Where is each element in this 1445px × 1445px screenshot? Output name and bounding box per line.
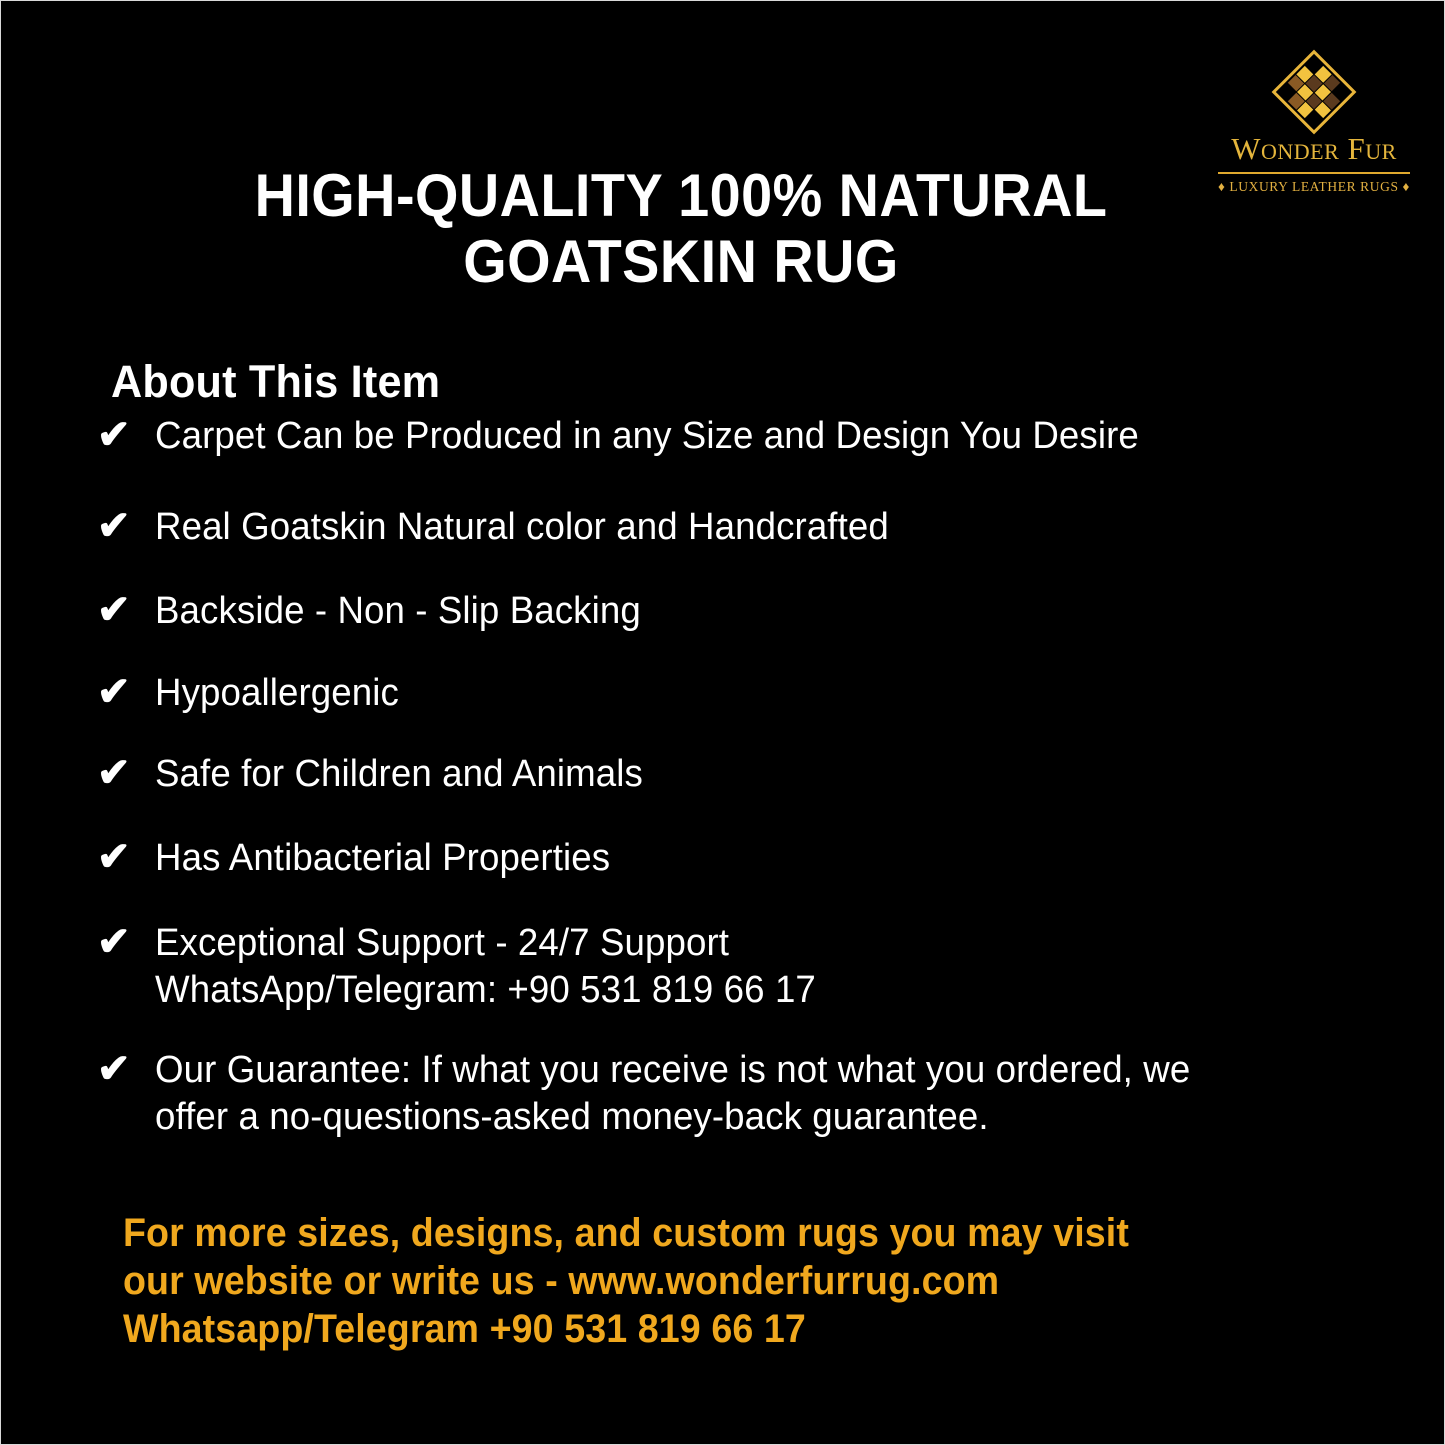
- list-item: ✔ Our Guarantee: If what you receive is …: [93, 1047, 1393, 1141]
- check-icon: ✔: [93, 835, 155, 879]
- footer-promo-text: For more sizes, designs, and custom rugs…: [123, 1209, 1298, 1353]
- list-item-label: Our Guarantee: If what you receive is no…: [155, 1047, 1350, 1141]
- list-item-label: Exceptional Support - 24/7 Support Whats…: [155, 920, 1350, 1014]
- check-icon: ✔: [93, 751, 155, 795]
- page-title: HIGH-QUALITY 100% NATURAL GOATSKIN RUG: [216, 163, 1146, 295]
- logo-diamond-wrap: [1271, 49, 1357, 135]
- list-item: ✔ Hypoallergenic: [93, 670, 1393, 717]
- list-item: ✔ Safe for Children and Animals: [93, 751, 1393, 798]
- list-item: ✔ Backside - Non - Slip Backing: [93, 588, 1393, 635]
- about-section-heading: About This Item: [111, 356, 440, 408]
- logo-wordmark: Wonder Fur: [1208, 133, 1420, 166]
- brand-logo: Wonder Fur ♦ LUXURY LEATHER RUGS ♦: [1208, 49, 1420, 197]
- check-icon: ✔: [93, 670, 155, 714]
- check-icon: ✔: [93, 588, 155, 632]
- list-item-label: Carpet Can be Produced in any Size and D…: [155, 413, 1350, 460]
- logo-divider: [1218, 172, 1410, 174]
- check-icon: ✔: [93, 504, 155, 548]
- promo-banner: Wonder Fur ♦ LUXURY LEATHER RUGS ♦ HIGH-…: [0, 0, 1445, 1445]
- list-item: ✔ Real Goatskin Natural color and Handcr…: [93, 504, 1393, 551]
- list-item: ✔ Exceptional Support - 24/7 Support Wha…: [93, 920, 1393, 1014]
- list-item: ✔ Carpet Can be Produced in any Size and…: [93, 413, 1393, 460]
- list-item-label: Has Antibacterial Properties: [155, 835, 1350, 882]
- check-icon: ✔: [93, 920, 155, 964]
- list-item: ✔ Has Antibacterial Properties: [93, 835, 1393, 882]
- check-icon: ✔: [93, 1047, 155, 1091]
- check-icon: ✔: [93, 413, 155, 457]
- list-item-label: Backside - Non - Slip Backing: [155, 588, 1350, 635]
- feature-list: ✔ Carpet Can be Produced in any Size and…: [93, 413, 1393, 1141]
- logo-tagline: ♦ LUXURY LEATHER RUGS ♦: [1208, 179, 1420, 195]
- list-item-label: Hypoallergenic: [155, 670, 1350, 717]
- list-item-label: Real Goatskin Natural color and Handcraf…: [155, 504, 1350, 551]
- list-item-label: Safe for Children and Animals: [155, 751, 1350, 798]
- diamond-rug-pattern-icon: [1272, 50, 1357, 135]
